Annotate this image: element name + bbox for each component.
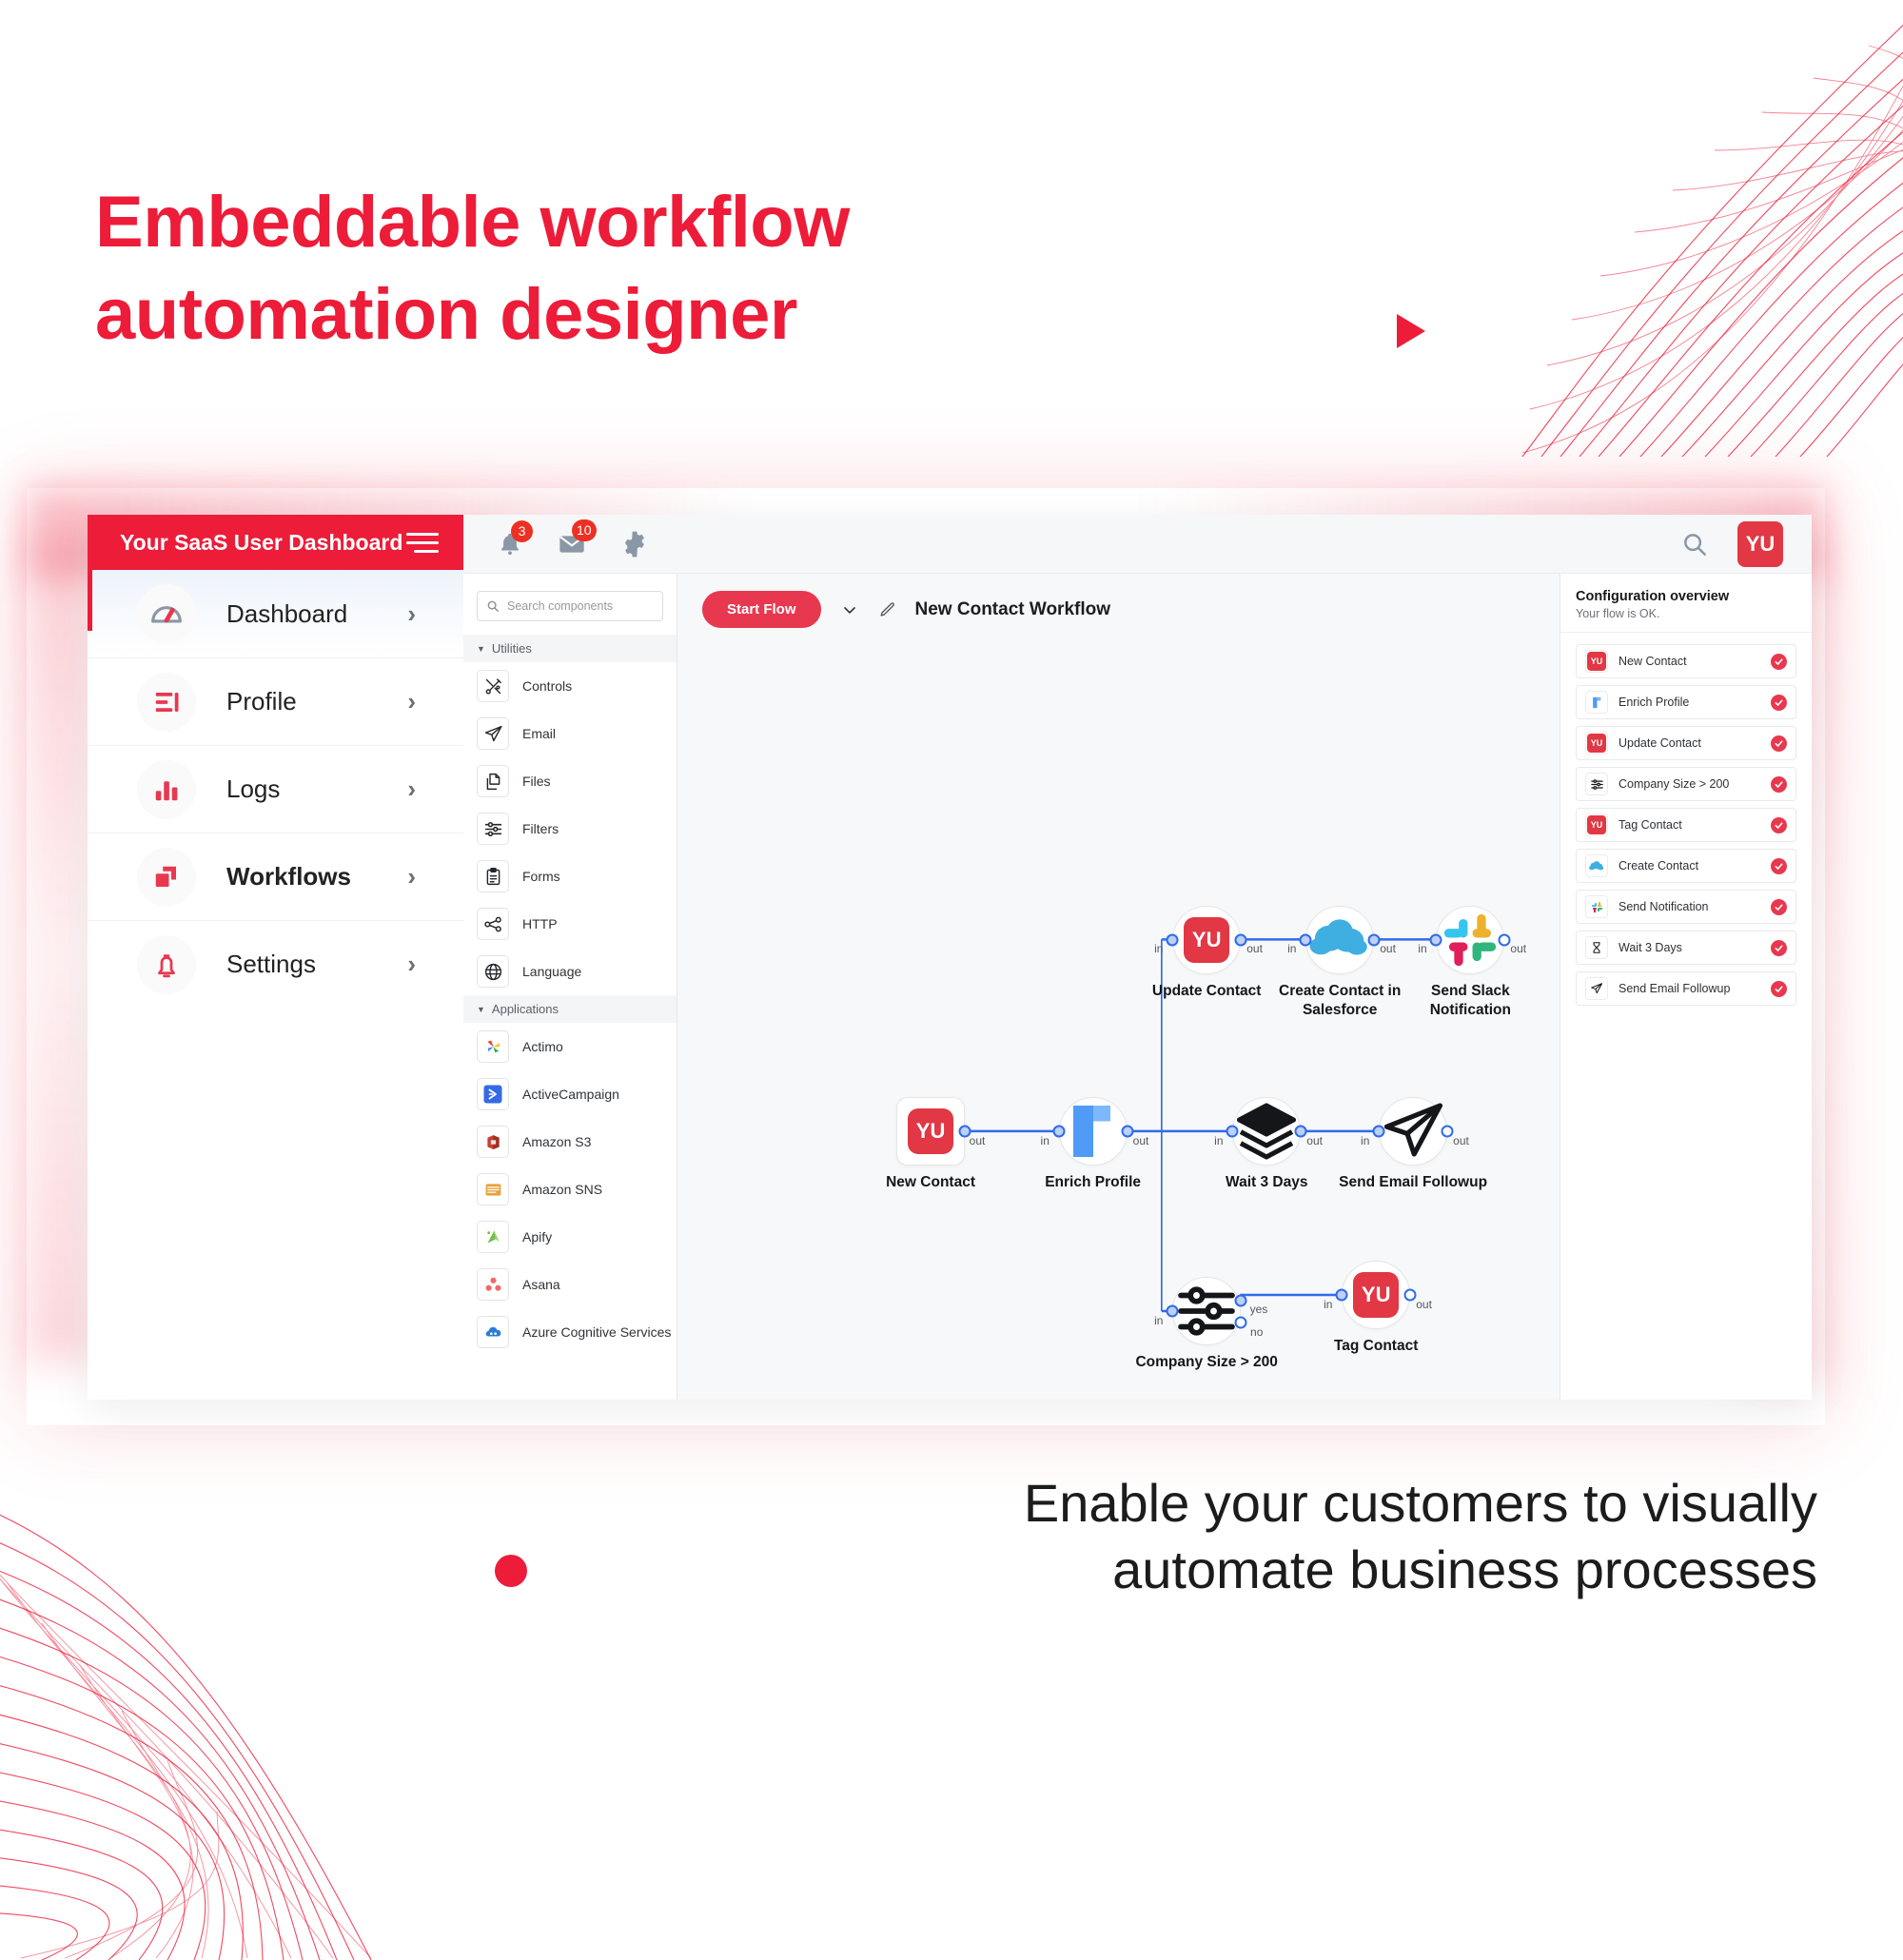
workflow-designer: 3 10 [463,515,1812,1400]
hourglass-icon [1585,936,1608,959]
yu-logo-icon: YU [1585,813,1608,836]
port-in[interactable] [1167,1305,1179,1318]
asana-icon [477,1268,509,1301]
palette-item-label: HTTP [522,916,558,931]
enrich-flag-icon [1059,1097,1128,1166]
chevron-right-icon: › [407,950,416,979]
bar-chart-icon [137,760,196,819]
enrich-flag-icon [1585,691,1608,714]
port-label: out [1380,942,1396,955]
salesforce-cloud-icon [1585,854,1608,877]
port-label: in [1041,1134,1050,1147]
port-label: in [1418,942,1426,955]
node-update-contact[interactable]: YU in out Update Contact [1172,906,1241,974]
node-company-size[interactable]: in yes no Company Size > 200 [1172,1277,1241,1345]
palette-group-applications[interactable]: ▼ Applications [463,995,677,1023]
gauge-icon [137,584,196,643]
palette-item-label: Language [522,964,581,979]
status-ok-icon [1771,776,1787,793]
component-palette: Search components ▼ Utilities Co [463,574,677,1400]
paper-plane-icon [1585,977,1608,1000]
node-label: Tag Contact [1334,1337,1418,1357]
port-label: yes [1250,1303,1268,1316]
port-label: in [1324,1298,1332,1311]
config-row[interactable]: YU Update Contact [1576,726,1796,760]
node-label: Create Contact in Salesforce [1254,982,1425,1022]
search-icon [486,599,500,613]
node-label: Update Contact [1152,982,1262,1002]
dashboard-app: Your SaaS User Dashboard Dashboard › [88,515,1812,1400]
avatar[interactable]: YU [1737,521,1783,567]
amazon-s3-icon [477,1126,509,1158]
amazon-sns-icon [477,1173,509,1205]
play-triangle-icon [1397,314,1425,348]
status-ok-icon [1771,654,1787,670]
bell-outline-icon [137,935,196,994]
node-label: New Contact [886,1173,975,1193]
page-title: Embeddable workflow automation designer [95,176,1142,362]
search-placeholder: Search components [507,599,613,613]
port-label: in [1154,1314,1163,1327]
slack-icon [1585,895,1608,918]
sliders-icon [1585,773,1608,795]
divider [1560,632,1812,633]
port-in[interactable] [1373,1125,1385,1137]
stack-layers-icon [1232,1097,1301,1166]
port-in[interactable] [1430,933,1442,946]
clipboard-icon [477,860,509,892]
status-ok-icon [1771,981,1787,997]
palette-item-actimo[interactable]: Actimo [463,1023,677,1070]
port-out[interactable] [1235,933,1247,946]
palette-item-label: Forms [522,869,560,884]
sidebar-item-label: Workflows [226,862,351,892]
status-ok-icon [1771,940,1787,956]
port-yes[interactable] [1235,1294,1247,1306]
config-row-label: Send Notification [1619,900,1760,913]
config-row[interactable]: Send Notification [1576,890,1796,924]
sidebar-item-logs[interactable]: Logs › [88,745,463,833]
config-row-label: Wait 3 Days [1619,941,1760,954]
globe-icon [477,955,509,988]
actimo-icon [477,1030,509,1063]
sidebar-item-workflows[interactable]: Workflows › [88,833,463,920]
palette-item-label: Asana [522,1277,560,1292]
config-row[interactable]: Send Email Followup [1576,971,1796,1006]
config-row-label: Enrich Profile [1619,696,1760,709]
port-out[interactable] [1295,1125,1307,1137]
port-in[interactable] [1300,933,1312,946]
azure-cognitive-icon [477,1316,509,1348]
search-icon[interactable] [1680,530,1709,559]
port-label: out [1133,1134,1149,1147]
node-enrich-profile[interactable]: in out Enrich Profile [1059,1097,1128,1166]
node-label: Wait 3 Days [1226,1173,1307,1193]
node-label: Enrich Profile [1045,1173,1141,1193]
config-row-label: Create Contact [1619,859,1760,872]
palette-item-azure-cognitive-services[interactable]: Azure Cognitive Services [463,1308,677,1356]
status-ok-icon [1771,899,1787,915]
sidebar-item-label: Profile [226,687,297,716]
palette-item-label: Filters [522,821,559,836]
node-label: Company Size > 200 [1135,1353,1277,1373]
envelope-icon[interactable]: 10 [557,529,587,559]
port-in[interactable] [1336,1288,1348,1301]
port-out[interactable] [1499,933,1511,946]
profile-bars-icon [137,673,196,732]
chevron-right-icon: › [407,862,416,892]
apify-icon [477,1221,509,1253]
chevron-right-icon: › [407,599,416,629]
config-subtitle: Your flow is OK. [1576,607,1796,620]
mail-badge: 10 [572,519,597,541]
sidebar-title: Your SaaS User Dashboard [120,530,402,556]
layers-squares-icon [137,848,196,907]
palette-item-http[interactable]: HTTP [463,900,677,948]
status-ok-icon [1771,695,1787,711]
palette-item-label: Actimo [522,1039,563,1054]
palette-item-label: Amazon S3 [522,1134,591,1149]
yu-logo-icon: YU [1172,906,1241,974]
port-in[interactable] [1052,1125,1065,1137]
config-row-label: Company Size > 200 [1619,777,1760,791]
activecampaign-icon [477,1078,509,1110]
port-in[interactable] [1226,1125,1239,1137]
port-label: out [970,1134,986,1147]
config-row[interactable]: YU New Contact [1576,644,1796,678]
sidebar-item-profile[interactable]: Profile › [88,657,463,745]
port-label: out [1453,1134,1469,1147]
port-label: out [1416,1298,1432,1311]
yu-logo-icon: YU [896,1097,965,1166]
footer-caption: Enable your customers to visually automa… [809,1470,1817,1603]
palette-item-label: Apify [522,1229,552,1245]
palette-item-forms[interactable]: Forms [463,853,677,900]
workflow-graph: YU out New Contact [677,574,1560,1400]
node-wait-3-days[interactable]: in out Wait 3 Days [1232,1097,1301,1166]
port-out[interactable] [1121,1125,1133,1137]
palette-item-apify[interactable]: Apify [463,1213,677,1261]
app-topbar: 3 10 [463,515,1812,574]
slack-icon [1436,906,1504,974]
port-label: out [1306,1134,1323,1147]
config-row[interactable]: Create Contact [1576,849,1796,883]
sidebar-header: Your SaaS User Dashboard [88,515,463,570]
port-label: in [1287,942,1296,955]
config-row[interactable]: Wait 3 Days [1576,931,1796,965]
sliders-icon [477,813,509,845]
decor-lines-top-right [1370,0,1903,457]
palette-item-filters[interactable]: Filters [463,805,677,853]
port-out[interactable] [1442,1125,1454,1137]
config-row-label: New Contact [1619,655,1760,668]
status-ok-icon [1771,858,1787,874]
sliders-icon [1172,1277,1241,1345]
notification-badge: 3 [511,520,533,542]
palette-item-email[interactable]: Email [463,710,677,757]
designer-workspace: Search components ▼ Utilities Co [463,574,1812,1400]
palette-item-label: Amazon SNS [522,1182,602,1197]
node-new-contact[interactable]: YU out New Contact [896,1097,965,1166]
palette-item-asana[interactable]: Asana [463,1261,677,1308]
yu-logo-icon: YU [1585,650,1608,673]
salesforce-cloud-icon [1305,906,1374,974]
config-row[interactable]: Company Size > 200 [1576,767,1796,801]
paper-plane-icon [477,717,509,750]
sidebar-item-dashboard[interactable]: Dashboard › [88,570,463,657]
port-label: out [1246,942,1263,955]
sidebar-item-label: Dashboard [226,599,347,629]
palette-group-label: Applications [492,1002,559,1016]
port-label: no [1250,1325,1263,1339]
node-send-slack-notification[interactable]: in out Send Slack Notification [1436,906,1504,974]
gear-icon[interactable] [619,529,650,559]
status-ok-icon [1771,817,1787,833]
palette-item-label: ActiveCampaign [522,1087,619,1102]
node-send-email-followup[interactable]: in out Send Email Followup [1379,1097,1447,1166]
sidebar-item-settings[interactable]: Settings › [88,920,463,1008]
chevron-right-icon: › [407,687,416,716]
palette-item-amazon-sns[interactable]: Amazon SNS [463,1166,677,1213]
hamburger-icon[interactable] [406,533,439,553]
palette-group-label: Utilities [492,641,532,656]
palette-item-files[interactable]: Files [463,757,677,805]
yu-logo-icon: YU [1342,1261,1410,1329]
chevron-right-icon: › [407,774,416,804]
caret-down-icon: ▼ [477,644,485,654]
status-ok-icon [1771,735,1787,752]
config-title: Configuration overview [1576,589,1796,604]
port-no[interactable] [1235,1316,1247,1328]
workflow-canvas[interactable]: Start Flow New Contact Workflow [677,574,1560,1400]
decor-dot [495,1555,527,1587]
palette-item-controls[interactable]: Controls [463,662,677,710]
search-components-input[interactable]: Search components [477,591,663,621]
yu-logo-icon: YU [1585,732,1608,755]
config-row[interactable]: Enrich Profile [1576,685,1796,719]
config-row-label: Tag Contact [1619,818,1760,832]
node-tag-contact[interactable]: YU in out Tag Contact [1342,1261,1410,1329]
palette-item-label: Azure Cognitive Services [522,1324,671,1340]
caret-down-icon: ▼ [477,1005,485,1014]
palette-item-amazon-s3[interactable]: Amazon S3 [463,1118,677,1166]
config-row-label: Update Contact [1619,736,1760,750]
sidebar-item-label: Logs [226,774,280,804]
port-label: in [1154,942,1163,955]
tools-icon [477,670,509,702]
node-create-contact-salesforce[interactable]: in out Create Contact in Salesforce [1305,906,1374,974]
node-label: Send Slack Notification [1408,982,1532,1022]
palette-item-label: Email [522,726,556,741]
blur-overlay-left [27,545,93,1363]
port-label: out [1510,942,1526,955]
port-out[interactable] [1368,933,1381,946]
decor-lines-bottom-left [0,1427,647,1960]
app-screenshot-frame: Your SaaS User Dashboard Dashboard › [27,488,1825,1425]
port-label: in [1214,1134,1223,1147]
palette-group-utilities[interactable]: ▼ Utilities [463,635,677,662]
palette-item-label: Controls [522,678,572,694]
config-row[interactable]: YU Tag Contact [1576,808,1796,842]
files-copy-icon [477,765,509,797]
bell-icon[interactable]: 3 [496,530,524,559]
port-out[interactable] [1404,1288,1417,1301]
palette-item-activecampaign[interactable]: ActiveCampaign [463,1070,677,1118]
port-in[interactable] [1167,933,1179,946]
configuration-overview-panel: Configuration overview Your flow is OK. … [1560,574,1812,1400]
paper-plane-icon [1379,1097,1447,1166]
sidebar: Your SaaS User Dashboard Dashboard › [88,515,463,1400]
palette-item-label: Files [522,774,551,789]
sidebar-item-label: Settings [226,950,316,979]
palette-item-language[interactable]: Language [463,948,677,995]
share-nodes-icon [477,908,509,940]
port-label: in [1361,1134,1369,1147]
node-label: Send Email Followup [1339,1173,1487,1193]
config-row-label: Send Email Followup [1619,982,1760,995]
